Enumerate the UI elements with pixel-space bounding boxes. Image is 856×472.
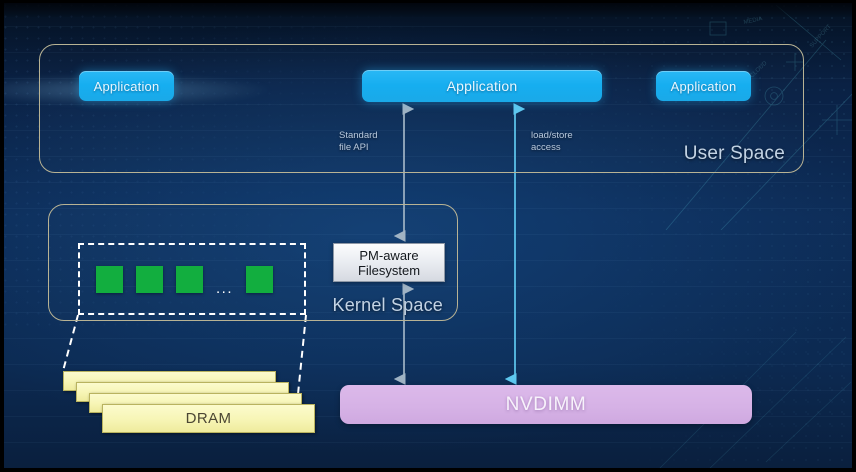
nvdimm-box[interactable]: NVDIMM: [340, 385, 752, 424]
letterbox-right: [852, 0, 856, 472]
memory-cell: [96, 266, 123, 293]
application-box-right[interactable]: Application: [656, 71, 751, 101]
standard-file-api-label: Standard file API: [339, 130, 378, 153]
memory-cell: [136, 266, 163, 293]
diagram-canvas: MEDIA SUPPORT CLOUD: [0, 0, 856, 472]
memory-cell-ellipsis: ...: [216, 284, 233, 294]
memory-page-region: ...: [78, 243, 306, 315]
filesystem-label-line1: PM-aware: [359, 248, 418, 263]
letterbox-top-fade: [0, 3, 856, 17]
memory-cell: [246, 266, 273, 293]
load-store-access-label: load/store access: [531, 130, 573, 153]
kernel-space-label: Kernel Space: [333, 295, 443, 316]
application-box-center[interactable]: Application: [362, 70, 602, 102]
pm-aware-filesystem-box[interactable]: PM-aware Filesystem: [333, 243, 445, 282]
dram-card-front[interactable]: DRAM: [102, 404, 315, 433]
application-box-left[interactable]: Application: [79, 71, 174, 101]
filesystem-label-line2: Filesystem: [358, 263, 420, 278]
letterbox-bottom: [0, 468, 856, 472]
memory-cell-row: ...: [80, 245, 304, 313]
svg-text:MEDIA: MEDIA: [743, 16, 763, 26]
letterbox-left: [0, 0, 4, 472]
user-space-zone: User Space: [39, 44, 804, 173]
memory-cell: [176, 266, 203, 293]
user-space-label: User Space: [684, 143, 785, 165]
